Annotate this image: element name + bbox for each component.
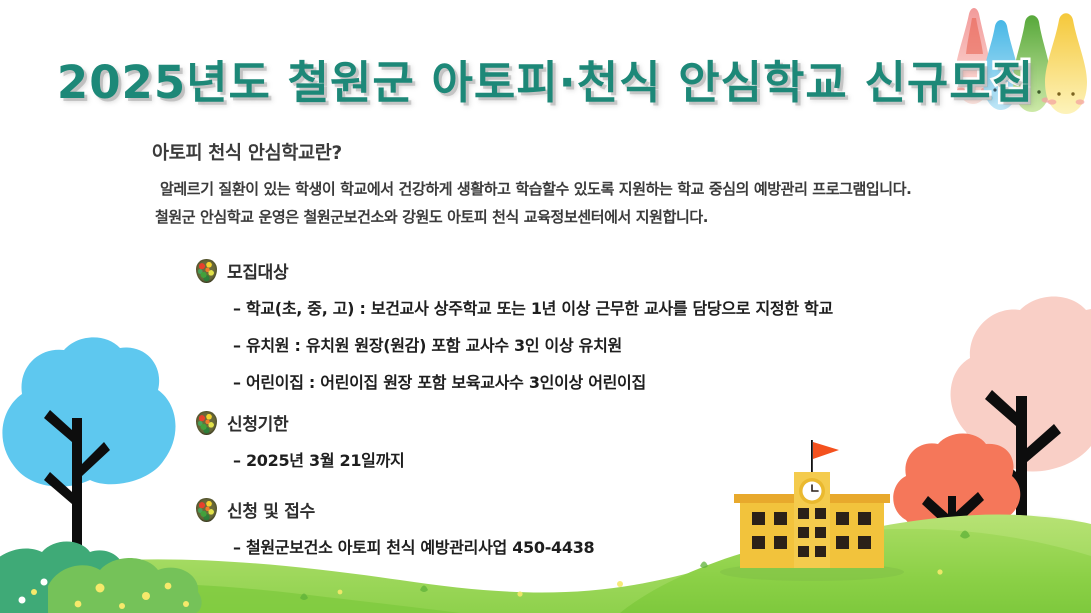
section-header: 신청 및 접수 (196, 497, 594, 521)
poster-canvas: 2025년도 철원군 아토피·천식 안심학교 신규모집 아토피 천식 안심학교란… (0, 0, 1091, 613)
section-title: 신청 및 접수 (227, 497, 315, 522)
section-target: 모집대상 – 학교(초, 중, 고) : 보건교사 상주학교 또는 1년 이상 … (196, 258, 833, 393)
sphere-bullet-icon (196, 411, 217, 435)
section-item: – 철원군보건소 아토피 천식 예방관리사업 450-4438 (196, 534, 594, 558)
section-title: 신청기한 (227, 410, 288, 435)
sphere-bullet-icon (196, 498, 217, 522)
section-deadline: 신청기한 – 2025년 3월 21일까지 (196, 410, 404, 471)
section-title: 모집대상 (227, 258, 288, 283)
content-area: 아토피 천식 안심학교란? 알레르기 질환이 있는 학생이 학교에서 건강하게 … (0, 0, 1091, 613)
section-item: – 2025년 3월 21일까지 (196, 447, 404, 471)
lead-heading: 아토피 천식 안심학교란? (152, 139, 342, 165)
section-header: 신청기한 (196, 410, 404, 434)
section-item: – 학교(초, 중, 고) : 보건교사 상주학교 또는 1년 이상 근무한 교… (196, 295, 833, 319)
lead-line-1: 알레르기 질환이 있는 학생이 학교에서 건강하게 생활하고 학습할수 있도록 … (160, 178, 911, 199)
section-apply: 신청 및 접수 – 철원군보건소 아토피 천식 예방관리사업 450-4438 (196, 497, 594, 558)
sphere-bullet-icon (196, 259, 217, 283)
section-header: 모집대상 (196, 258, 833, 282)
section-item: – 유치원 : 유치원 원장(원감) 포함 교사수 3인 이상 유치원 (196, 332, 833, 356)
section-item: – 어린이집 : 어린이집 원장 포함 보육교사수 3인이상 어린이집 (196, 369, 833, 393)
lead-line-2: 철원군 안심학교 운영은 철원군보건소와 강원도 아토피 천식 교육정보센터에서… (155, 206, 708, 227)
